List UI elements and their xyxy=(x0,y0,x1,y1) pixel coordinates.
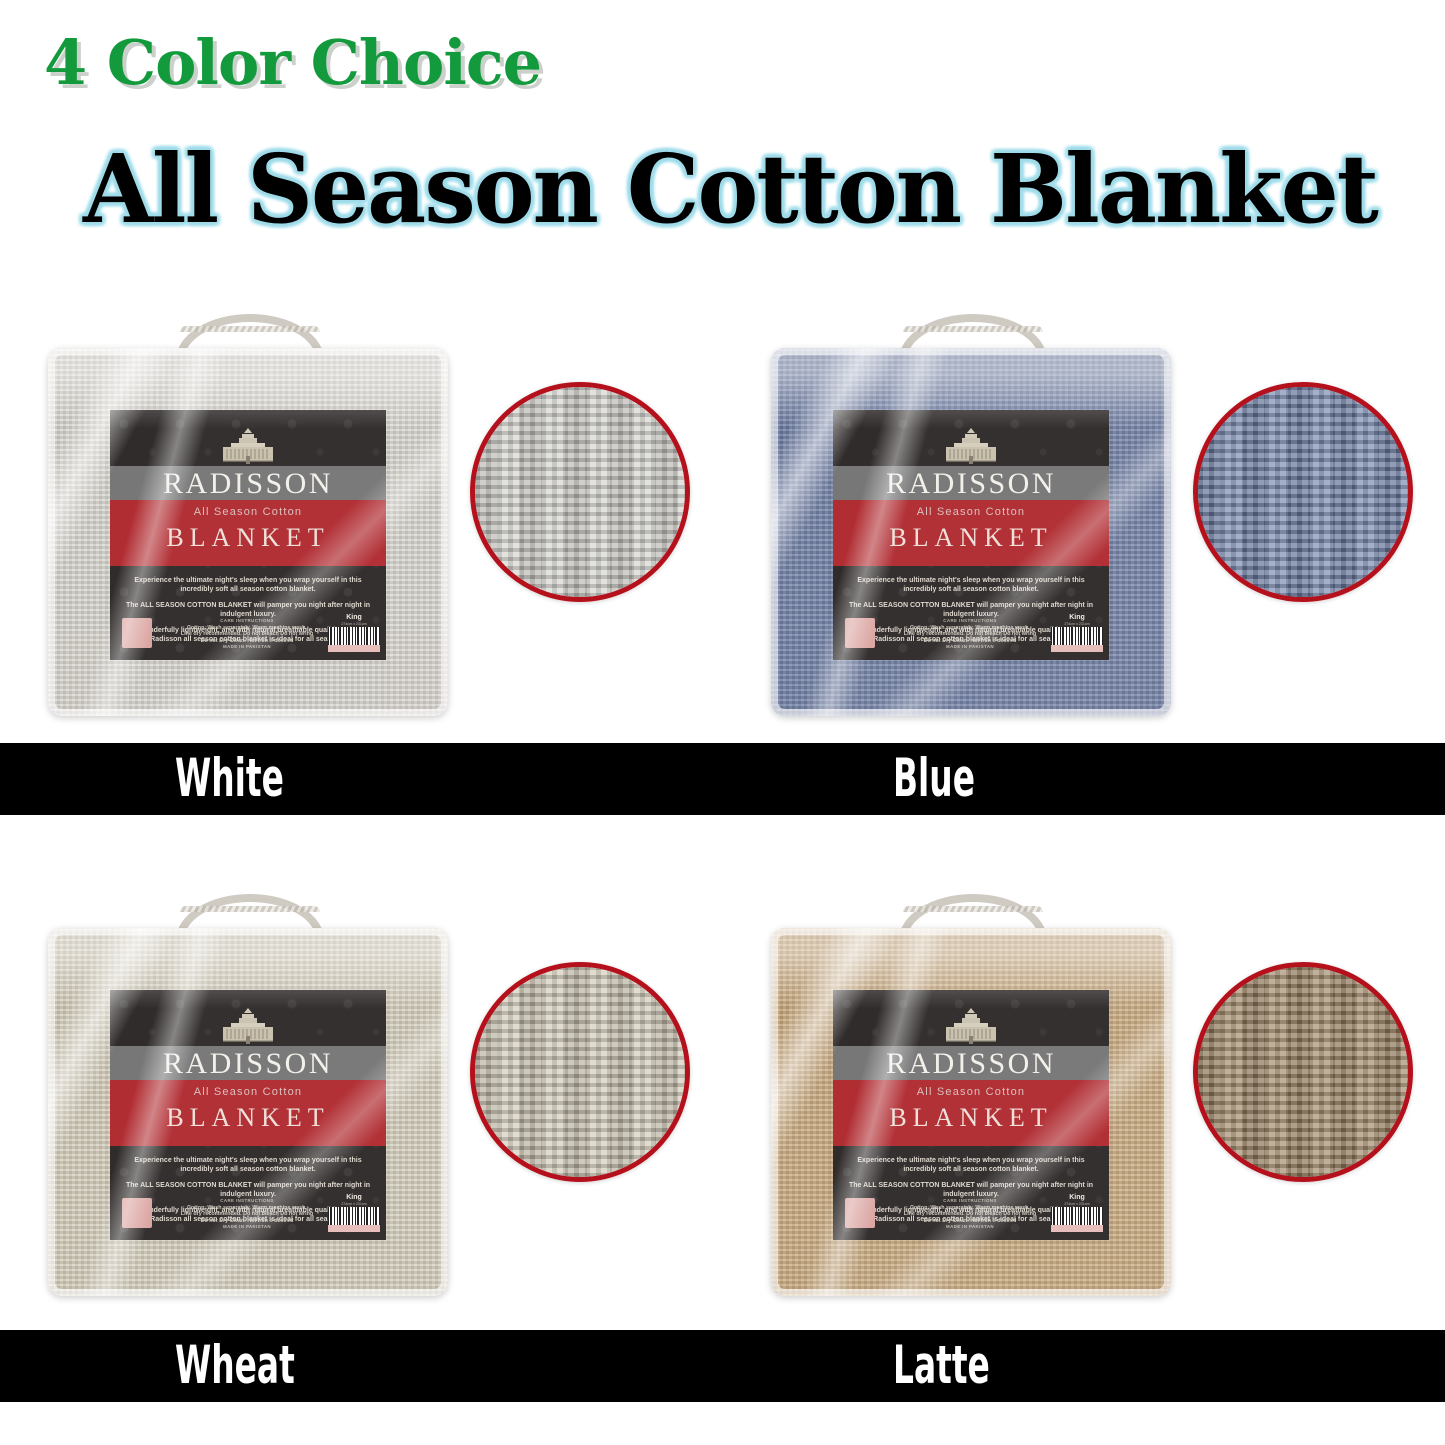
variant-name-latte: Latte xyxy=(893,1336,990,1396)
hotel-building-icon xyxy=(833,426,1109,466)
package-photo-blue: RADISSON All Season Cotton BLANKET Exper… xyxy=(771,310,1171,720)
origin-text: MADE IN PAKISTAN xyxy=(889,644,1051,651)
size-label: King xyxy=(328,1194,380,1202)
variant-cell-latte[interactable]: RADISSON All Season Cotton BLANKET Exper… xyxy=(723,890,1445,1310)
label-subline: All Season Cotton xyxy=(833,506,1109,518)
size-dimensions: 274cm x 231cm xyxy=(1051,1202,1103,1206)
variant-row-1: RADISSON All Season Cotton BLANKET Exper… xyxy=(0,310,1445,730)
care-line-3: Do not Dry Clean. Hot iron if desired xyxy=(166,638,328,645)
care-line-2: Line dry recommended. Do not bleach Do n… xyxy=(166,1211,328,1218)
plastic-bag: RADISSON All Season Cotton BLANKET Exper… xyxy=(48,928,448,1296)
origin-text: MADE IN PAKISTAN xyxy=(889,1224,1051,1231)
product-label: RADISSON All Season Cotton BLANKET Exper… xyxy=(833,990,1109,1240)
fabric-swatch-white xyxy=(470,382,690,602)
variant-name-blue: Blue xyxy=(893,749,975,809)
barcode-icon xyxy=(328,1207,380,1225)
label-subline: All Season Cotton xyxy=(110,506,386,518)
care-line-3: Do not Dry Clean. Hot iron if desired xyxy=(166,1218,328,1225)
barcode-block: King 274cm x 231cm xyxy=(328,614,380,652)
care-instructions: CARE INSTRUCTIONS Cotton. Wash separatel… xyxy=(889,1198,1051,1231)
barcode-block: King 274cm x 231cm xyxy=(1051,614,1103,652)
color-chip xyxy=(845,1198,875,1228)
care-heading: CARE INSTRUCTIONS xyxy=(166,618,328,625)
barcode-icon xyxy=(1051,627,1103,645)
kicker-text: 4 Color Choice xyxy=(44,26,541,99)
brand-name: RADISSON xyxy=(110,467,386,501)
care-line-2: Line dry recommended. Do not bleach Do n… xyxy=(166,631,328,638)
care-line-1: Cotton. Wash separately. Warm machine wa… xyxy=(166,625,328,632)
variant-name-wheat: Wheat xyxy=(175,1336,295,1396)
size-label: King xyxy=(328,614,380,622)
size-dimensions: 274cm x 231cm xyxy=(328,1202,380,1206)
care-line-1: Cotton. Wash separately. Warm machine wa… xyxy=(889,1205,1051,1212)
barcode-color-chip xyxy=(328,645,380,652)
brand-name: RADISSON xyxy=(833,1047,1109,1081)
product-label: RADISSON All Season Cotton BLANKET Exper… xyxy=(110,410,386,660)
swatch-texture xyxy=(1198,387,1408,597)
product-listing-image: 4 Color Choice All Season Cotton Blanket xyxy=(0,0,1445,1445)
brand-name: RADISSON xyxy=(110,1047,386,1081)
label-product-name: BLANKET xyxy=(833,523,1109,553)
label-paragraph-1: Experience the ultimate night's sleep wh… xyxy=(124,1156,372,1174)
product-label: RADISSON All Season Cotton BLANKET Exper… xyxy=(833,410,1109,660)
package-photo-white: RADISSON All Season Cotton BLANKET Exper… xyxy=(48,310,448,720)
plastic-bag: RADISSON All Season Cotton BLANKET Exper… xyxy=(771,348,1171,716)
label-product-name: BLANKET xyxy=(110,523,386,553)
variant-cell-wheat[interactable]: RADISSON All Season Cotton BLANKET Exper… xyxy=(0,890,722,1310)
barcode-color-chip xyxy=(328,1225,380,1232)
barcode-block: King 274cm x 231cm xyxy=(1051,1194,1103,1232)
plastic-bag: RADISSON All Season Cotton BLANKET Exper… xyxy=(48,348,448,716)
care-line-1: Cotton. Wash separately. Warm machine wa… xyxy=(166,1205,328,1212)
barcode-icon xyxy=(1051,1207,1103,1225)
color-chip xyxy=(122,618,152,648)
color-name-bar-row-2: Wheat Latte xyxy=(0,1330,1445,1402)
color-chip xyxy=(845,618,875,648)
barcode-icon xyxy=(328,627,380,645)
color-name-bar-row-1: White Blue xyxy=(0,743,1445,815)
origin-text: MADE IN PAKISTAN xyxy=(166,644,328,651)
care-instructions: CARE INSTRUCTIONS Cotton. Wash separatel… xyxy=(166,618,328,651)
care-instructions: CARE INSTRUCTIONS Cotton. Wash separatel… xyxy=(166,1198,328,1231)
swatch-texture xyxy=(1198,967,1408,1177)
origin-text: MADE IN PAKISTAN xyxy=(166,1224,328,1231)
swatch-texture xyxy=(475,387,685,597)
package-photo-wheat: RADISSON All Season Cotton BLANKET Exper… xyxy=(48,890,448,1300)
variant-name-white: White xyxy=(175,749,284,809)
size-dimensions: 274cm x 231cm xyxy=(328,622,380,626)
care-line-2: Line dry recommended. Do not bleach Do n… xyxy=(889,631,1051,638)
fabric-swatch-blue xyxy=(1193,382,1413,602)
hotel-building-icon xyxy=(110,1006,386,1046)
label-subline: All Season Cotton xyxy=(110,1086,386,1098)
size-label: King xyxy=(1051,1194,1103,1202)
label-paragraph-1: Experience the ultimate night's sleep wh… xyxy=(847,1156,1095,1174)
variant-cell-white[interactable]: RADISSON All Season Cotton BLANKET Exper… xyxy=(0,310,722,730)
care-instructions: CARE INSTRUCTIONS Cotton. Wash separatel… xyxy=(889,618,1051,651)
care-heading: CARE INSTRUCTIONS xyxy=(889,1198,1051,1205)
care-line-2: Line dry recommended. Do not bleach Do n… xyxy=(889,1211,1051,1218)
label-subline: All Season Cotton xyxy=(833,1086,1109,1098)
barcode-color-chip xyxy=(1051,1225,1103,1232)
plastic-bag: RADISSON All Season Cotton BLANKET Exper… xyxy=(771,928,1171,1296)
care-line-1: Cotton. Wash separately. Warm machine wa… xyxy=(889,625,1051,632)
package-photo-latte: RADISSON All Season Cotton BLANKET Exper… xyxy=(771,890,1171,1300)
barcode-color-chip xyxy=(1051,645,1103,652)
care-line-3: Do not Dry Clean. Hot iron if desired xyxy=(889,1218,1051,1225)
barcode-block: King 274cm x 231cm xyxy=(328,1194,380,1232)
care-line-3: Do not Dry Clean. Hot iron if desired xyxy=(889,638,1051,645)
brand-name: RADISSON xyxy=(833,467,1109,501)
page-title: All Season Cotton Blanket xyxy=(77,140,1383,240)
color-chip xyxy=(122,1198,152,1228)
hotel-building-icon xyxy=(833,1006,1109,1046)
care-heading: CARE INSTRUCTIONS xyxy=(166,1198,328,1205)
size-label: King xyxy=(1051,614,1103,622)
label-product-name: BLANKET xyxy=(833,1103,1109,1133)
swatch-texture xyxy=(475,967,685,1177)
product-label: RADISSON All Season Cotton BLANKET Exper… xyxy=(110,990,386,1240)
label-paragraph-1: Experience the ultimate night's sleep wh… xyxy=(124,576,372,594)
fabric-swatch-wheat xyxy=(470,962,690,1182)
variant-cell-blue[interactable]: RADISSON All Season Cotton BLANKET Exper… xyxy=(723,310,1445,730)
care-heading: CARE INSTRUCTIONS xyxy=(889,618,1051,625)
size-dimensions: 274cm x 231cm xyxy=(1051,622,1103,626)
fabric-swatch-latte xyxy=(1193,962,1413,1182)
label-product-name: BLANKET xyxy=(110,1103,386,1133)
hotel-building-icon xyxy=(110,426,386,466)
variant-row-2: RADISSON All Season Cotton BLANKET Exper… xyxy=(0,890,1445,1310)
label-paragraph-1: Experience the ultimate night's sleep wh… xyxy=(847,576,1095,594)
